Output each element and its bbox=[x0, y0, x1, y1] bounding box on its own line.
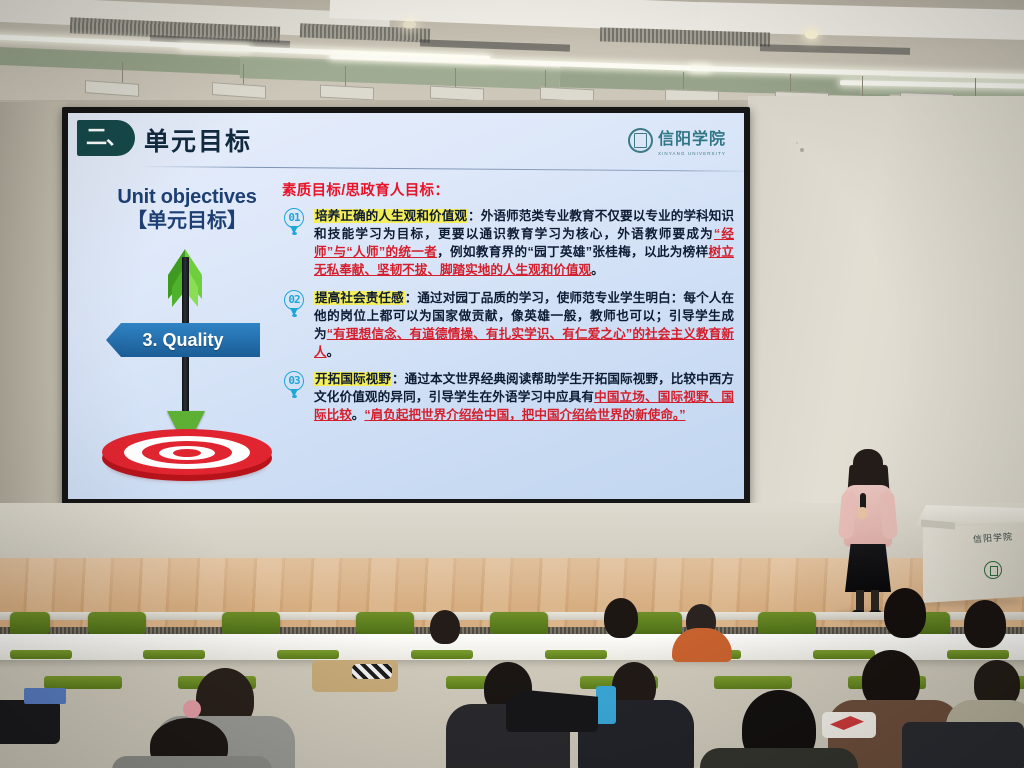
presentation-slide: 二、 单元目标 信阳学院 XINYANG UNIVERSITY Unit obj… bbox=[68, 113, 744, 499]
heading-chinese: 【单元目标】 bbox=[92, 209, 282, 233]
objective-text: 开拓国际视野：通过本文世界经典阅读帮助学生开拓国际视野，比较中西方文化价值观的异… bbox=[314, 370, 734, 424]
audience-torso bbox=[112, 756, 272, 768]
marker-01-icon: 01 bbox=[282, 208, 308, 234]
quality-banner: 3. Quality bbox=[106, 323, 260, 357]
hair-flower bbox=[183, 700, 201, 718]
marker-03-icon: 03 bbox=[282, 371, 308, 397]
ceiling-spotlight bbox=[403, 20, 416, 29]
university-logo: 信阳学院 XINYANG UNIVERSITY bbox=[628, 125, 726, 156]
section-number-badge: 二、 bbox=[77, 120, 135, 156]
backpack bbox=[506, 690, 598, 732]
stage-light bbox=[85, 80, 139, 97]
audience-head bbox=[884, 588, 926, 638]
slide-title: 单元目标 bbox=[144, 122, 252, 158]
objective-item: 02 提高社会责任感：通过对园丁品质的学习，使师范专业学生明白：每个人在他的岗位… bbox=[282, 289, 734, 362]
stage-light bbox=[320, 85, 374, 101]
marker-02-icon: 02 bbox=[282, 290, 308, 316]
left-wall bbox=[0, 102, 66, 572]
podium: 信阳学院 bbox=[915, 505, 1024, 603]
target-icon bbox=[102, 421, 272, 483]
objectives-section-title: 素质目标/思政育人目标： bbox=[282, 179, 734, 200]
audience-head bbox=[964, 600, 1006, 648]
seal-icon bbox=[628, 128, 653, 153]
objective-text: 提高社会责任感：通过对园丁品质的学习，使师范专业学生明白：每个人在他的岗位上都可… bbox=[314, 289, 734, 362]
logo-name-en: XINYANG UNIVERSITY bbox=[658, 151, 726, 156]
presenter-skirt bbox=[845, 544, 891, 592]
stage-light bbox=[212, 82, 266, 99]
seat bbox=[490, 612, 548, 634]
seat bbox=[10, 612, 50, 634]
podium-label: 信阳学院 bbox=[973, 530, 1014, 546]
audience-head bbox=[604, 598, 638, 638]
seat bbox=[88, 612, 146, 634]
water-bottle bbox=[596, 686, 616, 724]
unit-objectives-heading: Unit objectives 【单元目标】 bbox=[92, 185, 282, 234]
podium-logo-icon bbox=[984, 561, 1002, 579]
lecture-hall-scene: 二、 单元目标 信阳学院 XINYANG UNIVERSITY Unit obj… bbox=[0, 0, 1024, 768]
objectives-content: 素质目标/思政育人目标： 01 培养正确的人生观和价值观：外语师范类专业教育不仅… bbox=[282, 179, 734, 433]
shoulder-bag bbox=[0, 700, 60, 744]
title-divider bbox=[138, 166, 744, 172]
projection-screen: 二、 单元目标 信阳学院 XINYANG UNIVERSITY Unit obj… bbox=[62, 107, 750, 505]
backpack bbox=[902, 722, 1024, 768]
objective-text: 培养正确的人生观和价值观：外语师范类专业教育不仅要以专业的学科知识和技能学习为目… bbox=[314, 207, 734, 280]
notebook bbox=[24, 688, 66, 704]
audience-head bbox=[430, 610, 460, 644]
seat bbox=[222, 612, 280, 634]
presenter-hair bbox=[853, 449, 883, 489]
arrow-target-graphic: 3. Quality bbox=[94, 235, 280, 465]
seat bbox=[356, 612, 414, 634]
ceiling-spotlight bbox=[805, 30, 818, 39]
seat bbox=[758, 612, 816, 634]
heading-english: Unit objectives bbox=[92, 185, 282, 209]
objective-item: 03 开拓国际视野：通过本文世界经典阅读帮助学生开拓国际视野，比较中西方文化价值… bbox=[282, 370, 734, 424]
logo-name-cn: 信阳学院 bbox=[658, 125, 726, 149]
objective-item: 01 培养正确的人生观和价值观：外语师范类专业教育不仅要以专业的学科知识和技能学… bbox=[282, 207, 734, 280]
audience-torso bbox=[700, 748, 858, 768]
